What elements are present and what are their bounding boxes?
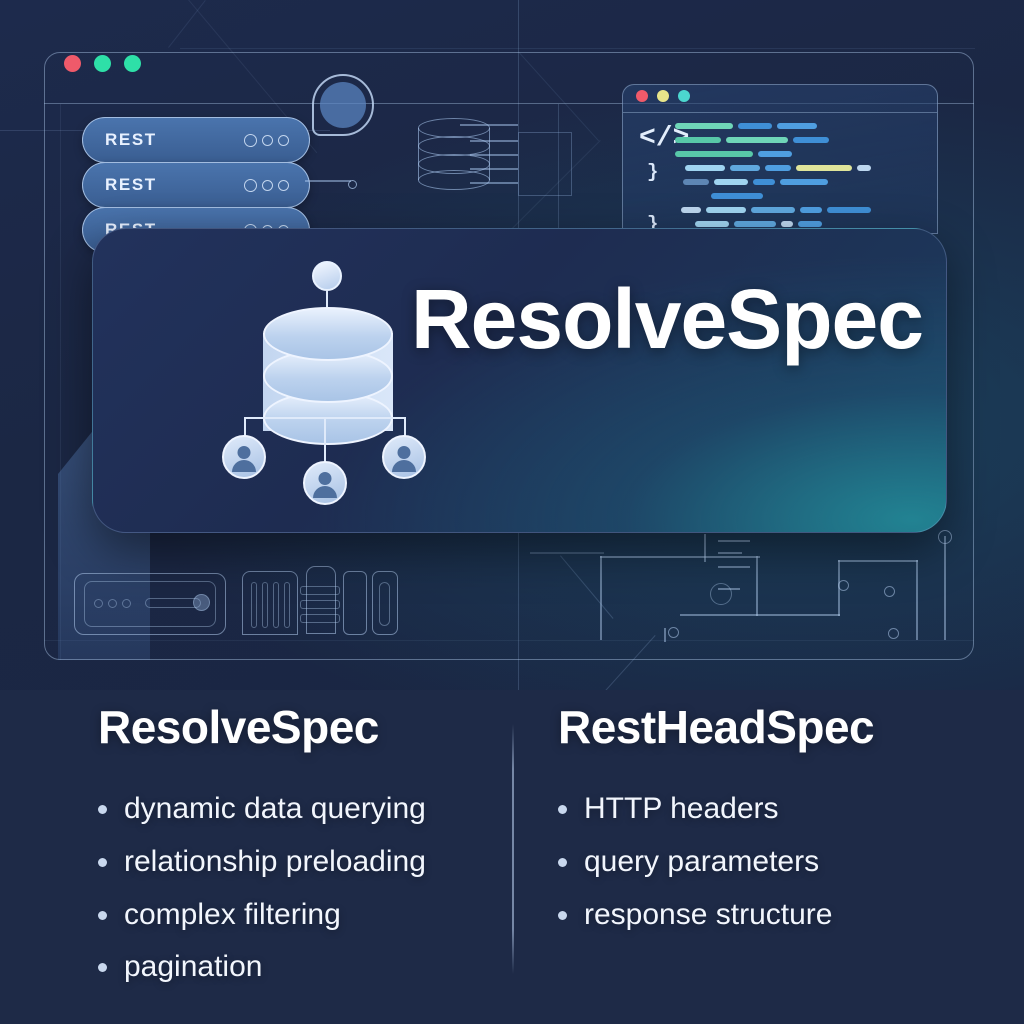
rack-fin [284, 582, 290, 628]
feature-item: dynamic data querying [98, 792, 498, 827]
logo-link-left-h [244, 417, 328, 419]
endpoint-pill-rest-2[interactable]: REST [82, 162, 310, 208]
code-line [711, 191, 929, 200]
db-outline-ellipse [418, 136, 490, 156]
code-line [675, 121, 929, 130]
code-brace-icon: } [647, 161, 658, 183]
code-token [793, 137, 829, 143]
code-token [827, 207, 871, 213]
code-token [706, 207, 746, 213]
code-token [675, 151, 753, 157]
circuit-node-icon [938, 530, 952, 544]
code-line [681, 205, 929, 214]
circuit-trace [600, 556, 760, 558]
feature-list: HTTP headersquery parametersresponse str… [558, 792, 978, 932]
circuit-trace [680, 614, 840, 616]
window-traffic-lights[interactable] [64, 55, 141, 72]
server-slider-knob [193, 594, 210, 611]
feature-column-restheadspec: RestHeadSpec HTTP headersquery parameter… [558, 700, 978, 950]
logo-top-node-icon [312, 261, 342, 291]
code-token [857, 165, 871, 171]
code-token [738, 123, 772, 129]
feature-column-resolvespec: ResolveSpec dynamic data queryingrelatio… [98, 700, 498, 1003]
feature-columns: ResolveSpec dynamic data queryingrelatio… [0, 700, 1024, 1024]
status-ring-icon [262, 135, 273, 146]
maximize-dot-icon[interactable] [678, 90, 690, 102]
code-token [726, 137, 788, 143]
code-token [714, 179, 748, 185]
status-ring-icon [278, 135, 289, 146]
code-token [675, 123, 733, 129]
code-token [675, 137, 721, 143]
close-dot-icon[interactable] [636, 90, 648, 102]
db-outline-ellipse [418, 170, 490, 190]
close-dot-icon[interactable] [64, 55, 81, 72]
column-heading: ResolveSpec [98, 700, 498, 754]
code-token [796, 165, 852, 171]
code-token [798, 221, 822, 227]
minimize-dot-icon[interactable] [657, 90, 669, 102]
status-ring-icon [262, 180, 273, 191]
circuit-trace [664, 628, 666, 642]
server-led-icon [94, 599, 103, 608]
minimize-dot-icon[interactable] [94, 55, 111, 72]
rack-slot [300, 600, 340, 609]
code-line [683, 177, 929, 186]
circuit-node-icon [884, 586, 895, 597]
code-token [681, 207, 701, 213]
logo-link-right-h [326, 417, 406, 419]
status-ring-icon [244, 134, 257, 147]
code-line [695, 219, 929, 228]
db-connector-line [470, 154, 518, 156]
rack-fin [273, 582, 279, 628]
logo-user-node-center [303, 461, 347, 505]
circuit-rung [718, 540, 750, 542]
endpoint-label: REST [105, 175, 157, 195]
db-connector-line [470, 182, 518, 184]
db-outline-ellipse [418, 118, 490, 138]
code-lines-group [675, 121, 929, 234]
chat-bubble-fill [320, 82, 366, 128]
code-window-traffic-lights[interactable] [636, 90, 690, 102]
circuit-filler [712, 546, 713, 547]
circuit-trace [838, 560, 918, 562]
infographic-canvas: REST REST REST [0, 0, 1024, 1024]
rack-slot [300, 614, 340, 623]
server-led-icon [122, 599, 131, 608]
logo-database-cylinder [263, 307, 393, 447]
feature-item: HTTP headers [558, 792, 978, 827]
endpoint-pill-rest-1[interactable]: REST [82, 117, 310, 163]
feature-item: query parameters [558, 845, 978, 880]
circuit-rung [718, 588, 740, 590]
node-link-line [305, 180, 351, 182]
code-token [780, 179, 828, 185]
server-led-icon [108, 599, 117, 608]
feature-item: complex filtering [98, 898, 498, 933]
code-token [765, 165, 791, 171]
node-dot-icon [348, 180, 357, 189]
user-head-icon [319, 472, 332, 485]
circuit-trace [756, 556, 758, 616]
endpoint-label: REST [105, 130, 157, 150]
logo-user-node-left [222, 435, 266, 479]
column-divider [512, 724, 514, 974]
code-token [758, 151, 792, 157]
code-token [777, 123, 817, 129]
circuit-rail [704, 534, 706, 562]
rack-indicator [379, 582, 390, 626]
column-heading: RestHeadSpec [558, 700, 978, 754]
code-token [781, 221, 793, 227]
circuit-trace [944, 536, 946, 640]
endpoint-status-marks [244, 134, 289, 147]
code-token [800, 207, 822, 213]
endpoint-status-marks [244, 179, 289, 192]
feature-item: relationship preloading [98, 845, 498, 880]
code-token [711, 193, 763, 199]
rack-fin [251, 582, 257, 628]
circuit-ring-icon [710, 583, 732, 605]
db-connector-line [470, 140, 518, 142]
circuit-node-icon [668, 627, 679, 638]
user-body-icon [313, 486, 337, 498]
code-token [695, 221, 729, 227]
db-connector-line [470, 168, 518, 170]
code-token [734, 221, 776, 227]
logo-user-node-right [382, 435, 426, 479]
code-token [683, 179, 709, 185]
feature-item: response structure [558, 898, 978, 933]
blueprint-hline-top [180, 48, 975, 49]
cylinder-disc [263, 307, 393, 361]
code-token [730, 165, 760, 171]
user-head-icon [238, 446, 251, 459]
user-head-icon [398, 446, 411, 459]
blueprint-box-a [518, 132, 572, 196]
user-body-icon [232, 460, 256, 472]
status-ring-icon [278, 180, 289, 191]
circuit-node-icon [888, 628, 899, 639]
feature-list: dynamic data queryingrelationship preloa… [98, 792, 498, 985]
code-line [685, 163, 929, 172]
product-title: ResolveSpec [411, 275, 923, 363]
circuit-trace [530, 552, 604, 554]
user-body-icon [392, 460, 416, 472]
code-token [753, 179, 775, 185]
logo-link-center-v [324, 417, 326, 463]
db-connector-line [460, 124, 518, 126]
code-token [751, 207, 795, 213]
code-token [685, 165, 725, 171]
product-hero-card: ResolveSpec [92, 228, 947, 533]
database-nodes-logo [218, 261, 433, 501]
circuit-trace [600, 556, 602, 640]
status-ring-icon [244, 179, 257, 192]
maximize-dot-icon[interactable] [124, 55, 141, 72]
circuit-node-icon [838, 580, 849, 591]
hero-illustration: REST REST REST [0, 0, 1024, 690]
rack-fin [262, 582, 268, 628]
code-line [675, 149, 929, 158]
code-line [675, 135, 929, 144]
circuit-trace [916, 560, 918, 640]
code-editor-window: </> } } [622, 84, 938, 234]
rack-slot [300, 586, 340, 595]
feature-item: pagination [98, 950, 498, 985]
rack-unit-c [343, 571, 367, 635]
